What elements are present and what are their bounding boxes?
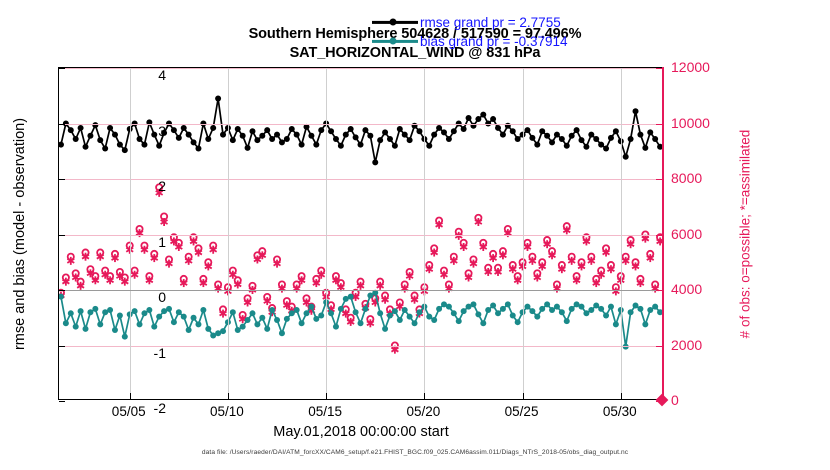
series-point-rmse bbox=[510, 128, 516, 134]
right-axis-tick-label: 6000 bbox=[671, 226, 702, 242]
series-point-bias bbox=[549, 307, 555, 313]
series-point-bias bbox=[529, 308, 535, 314]
series-point-bias bbox=[333, 324, 339, 330]
series-point-bias bbox=[598, 306, 604, 312]
right-axis-tick-label: 12000 bbox=[671, 59, 710, 75]
series-point-rmse bbox=[480, 112, 486, 118]
series-point-rmse bbox=[583, 144, 589, 150]
series-point-bias bbox=[613, 321, 619, 327]
series-point-rmse bbox=[59, 142, 64, 148]
series-point-rmse bbox=[362, 127, 368, 133]
series-point-bias bbox=[284, 316, 290, 322]
right-axis-label: # of obs: o=possible; *=assimilated bbox=[738, 130, 753, 339]
right-axis-tick-label: 2000 bbox=[671, 337, 702, 353]
series-point-bias bbox=[166, 306, 172, 312]
series-point-rmse bbox=[431, 132, 437, 138]
series-point-rmse bbox=[534, 142, 540, 148]
vertical-gridline bbox=[523, 68, 524, 399]
series-point-rmse bbox=[279, 139, 285, 145]
plot-clip bbox=[59, 68, 662, 399]
series-point-bias bbox=[485, 307, 491, 313]
series-point-rmse bbox=[475, 116, 481, 122]
series-point-bias bbox=[92, 306, 98, 312]
series-point-rmse bbox=[313, 142, 319, 148]
series-point-rmse bbox=[613, 128, 619, 134]
series-point-bias bbox=[279, 330, 285, 336]
series-point-rmse bbox=[372, 159, 378, 165]
series-point-rmse bbox=[392, 143, 398, 149]
series-point-rmse bbox=[539, 128, 545, 134]
vertical-gridline bbox=[424, 68, 425, 399]
series-point-bias bbox=[68, 310, 74, 316]
series-point-bias bbox=[156, 314, 162, 320]
series-point-rmse bbox=[299, 142, 305, 148]
series-point-bias bbox=[470, 301, 476, 307]
series-point-bias bbox=[313, 316, 319, 322]
series-point-rmse bbox=[156, 143, 162, 149]
series-point-rmse bbox=[259, 133, 265, 139]
series-point-rmse bbox=[205, 136, 211, 142]
legend-item-bias: bias grand pr = -0.37914 bbox=[372, 31, 567, 50]
series-point-rmse bbox=[284, 136, 290, 142]
series-point-rmse bbox=[574, 127, 580, 133]
data-file-footer: data file: /Users/raeder/DAI/ATM_forcXX/… bbox=[0, 449, 830, 456]
series-point-rmse bbox=[367, 133, 373, 139]
left-axis-tick-mark bbox=[59, 235, 65, 236]
x-axis-tick-label: 05/25 bbox=[505, 404, 539, 419]
series-point-bias bbox=[289, 310, 295, 316]
right-axis-spine bbox=[662, 67, 664, 401]
series-point-rmse bbox=[289, 126, 295, 132]
series-point-rmse bbox=[97, 137, 103, 143]
legend-label-rmse: rmse grand pr = 2.7755 bbox=[420, 15, 561, 30]
series-point-bias bbox=[633, 303, 639, 309]
series-point-rmse bbox=[397, 126, 403, 132]
left-axis-tick-mark bbox=[59, 68, 65, 69]
series-point-bias bbox=[544, 301, 550, 307]
series-point-bias bbox=[245, 317, 251, 323]
series-point-bias bbox=[353, 309, 359, 315]
series-point-rmse bbox=[461, 126, 467, 132]
series-point-rmse bbox=[603, 145, 609, 151]
series-point-rmse bbox=[122, 147, 128, 153]
series-point-bias bbox=[426, 314, 432, 320]
legend-item-rmse: rmse grand pr = 2.7755 bbox=[372, 12, 567, 31]
series-point-rmse bbox=[210, 125, 216, 131]
series-point-bias bbox=[78, 308, 84, 314]
series-point-rmse bbox=[181, 125, 187, 131]
left-axis-tick-mark bbox=[59, 124, 65, 125]
series-point-bias bbox=[358, 320, 364, 326]
series-point-bias bbox=[505, 301, 511, 307]
legend: rmse grand pr = 2.7755 bias grand pr = -… bbox=[372, 12, 567, 50]
series-point-rmse bbox=[73, 136, 79, 142]
series-point-bias bbox=[554, 304, 560, 310]
series-point-rmse bbox=[593, 136, 599, 142]
x-axis-tick-label: 05/30 bbox=[603, 404, 637, 419]
series-point-bias bbox=[235, 327, 241, 333]
series-point-bias bbox=[176, 309, 182, 315]
series-point-bias bbox=[534, 314, 540, 320]
series-point-rmse bbox=[554, 132, 560, 138]
vertical-gridline bbox=[621, 68, 622, 399]
series-point-bias bbox=[397, 317, 403, 323]
series-point-bias bbox=[137, 321, 143, 327]
series-point-bias bbox=[122, 334, 128, 340]
series-point-rmse bbox=[348, 126, 354, 132]
series-point-rmse bbox=[294, 132, 300, 138]
series-point-bias bbox=[652, 304, 658, 310]
series-point-rmse bbox=[466, 115, 472, 121]
series-point-rmse bbox=[623, 154, 629, 160]
series-point-rmse bbox=[500, 132, 506, 138]
horizontal-gridline bbox=[59, 235, 662, 236]
series-point-rmse bbox=[215, 96, 221, 102]
left-axis-tick-mark bbox=[59, 346, 65, 347]
series-point-rmse bbox=[186, 132, 192, 138]
series-point-rmse bbox=[451, 128, 457, 134]
series-point-bias bbox=[205, 326, 211, 332]
series-point-rmse bbox=[191, 139, 197, 145]
series-point-bias bbox=[294, 307, 300, 313]
series-point-bias bbox=[362, 306, 368, 312]
series-point-bias bbox=[495, 310, 501, 316]
series-point-bias bbox=[264, 326, 270, 332]
series-point-bias bbox=[608, 304, 614, 310]
series-point-bias bbox=[186, 327, 192, 333]
series-point-bias bbox=[195, 321, 201, 327]
horizontal-gridline bbox=[59, 346, 662, 347]
series-point-bias bbox=[446, 304, 452, 310]
series-point-rmse bbox=[529, 135, 535, 141]
series-point-bias bbox=[274, 317, 280, 323]
series-point-rmse bbox=[102, 145, 108, 151]
series-point-rmse bbox=[68, 127, 74, 133]
series-point-rmse bbox=[230, 137, 236, 143]
series-point-rmse bbox=[141, 142, 147, 148]
x-axis-tick-label: 05/20 bbox=[406, 404, 440, 419]
series-point-bias bbox=[480, 320, 486, 326]
series-point-rmse bbox=[353, 134, 359, 140]
series-point-bias bbox=[642, 321, 648, 327]
series-point-bias bbox=[387, 313, 393, 319]
series-point-bias bbox=[328, 310, 334, 316]
series-point-bias bbox=[230, 309, 236, 315]
series-point-rmse bbox=[333, 136, 339, 142]
series-point-rmse bbox=[426, 143, 432, 149]
series-point-bias bbox=[191, 315, 197, 321]
x-axis-label: May.01,2018 00:00:00 start bbox=[0, 424, 722, 440]
series-point-rmse bbox=[633, 108, 639, 114]
series-point-bias bbox=[490, 303, 496, 309]
series-point-bias bbox=[181, 314, 187, 320]
right-axis-tick-label: 4000 bbox=[671, 281, 702, 297]
series-point-bias bbox=[299, 320, 305, 326]
series-point-bias bbox=[603, 313, 609, 319]
series-point-bias bbox=[73, 324, 79, 330]
plot-area bbox=[58, 67, 663, 400]
series-point-rmse bbox=[137, 136, 143, 142]
series-point-bias bbox=[637, 306, 643, 312]
data-layer bbox=[59, 68, 662, 399]
series-point-bias bbox=[539, 306, 545, 312]
series-point-rmse bbox=[195, 145, 201, 151]
series-point-bias bbox=[431, 317, 437, 323]
x-axis-tick-label: 05/05 bbox=[112, 404, 146, 419]
series-point-rmse bbox=[588, 132, 594, 138]
series-point-rmse bbox=[151, 132, 157, 138]
series-point-bias bbox=[436, 306, 442, 312]
series-point-bias bbox=[579, 304, 585, 310]
series-point-bias bbox=[117, 313, 123, 319]
left-axis-tick-mark bbox=[59, 401, 65, 402]
series-point-rmse bbox=[117, 142, 123, 148]
series-point-bias bbox=[87, 309, 93, 315]
series-point-rmse bbox=[436, 125, 442, 131]
series-point-bias bbox=[112, 327, 118, 333]
series-point-rmse bbox=[112, 132, 118, 138]
series-point-bias bbox=[564, 318, 570, 324]
series-point-bias bbox=[97, 321, 103, 327]
series-point-rmse bbox=[83, 144, 89, 150]
horizontal-gridline bbox=[59, 179, 662, 180]
series-point-rmse bbox=[220, 132, 226, 138]
series-point-rmse bbox=[328, 128, 334, 134]
series-point-rmse bbox=[87, 133, 93, 139]
x-axis-tick-mark bbox=[424, 393, 425, 399]
series-point-bias bbox=[593, 303, 599, 309]
series-point-rmse bbox=[637, 132, 643, 138]
series-point-rmse bbox=[569, 133, 575, 139]
series-point-rmse bbox=[308, 133, 314, 139]
series-point-rmse bbox=[446, 136, 452, 142]
series-point-rmse bbox=[559, 136, 565, 142]
right-axis-tick-label: 10000 bbox=[671, 115, 710, 131]
right-axis-tick-label: 0 bbox=[671, 392, 679, 408]
series-point-rmse bbox=[515, 136, 521, 142]
series-point-rmse bbox=[254, 137, 260, 143]
series-point-bias bbox=[377, 310, 383, 316]
series-point-bias bbox=[412, 320, 418, 326]
series-point-rmse bbox=[608, 135, 614, 141]
series-point-bias bbox=[259, 315, 265, 321]
series-point-rmse bbox=[598, 142, 604, 148]
vertical-gridline bbox=[228, 68, 229, 399]
series-point-bias bbox=[240, 324, 246, 330]
series-point-rmse bbox=[235, 126, 241, 132]
series-point-rmse bbox=[318, 127, 324, 133]
series-point-bias bbox=[220, 328, 226, 334]
series-point-rmse bbox=[549, 139, 555, 145]
series-assimilated bbox=[59, 189, 662, 354]
series-point-rmse bbox=[264, 127, 270, 133]
series-point-rmse bbox=[490, 116, 496, 122]
series-point-bias bbox=[304, 310, 310, 316]
x-axis-tick-mark bbox=[523, 393, 524, 399]
series-rmse bbox=[59, 96, 662, 166]
series-point-rmse bbox=[107, 125, 113, 131]
series-point-rmse bbox=[579, 137, 585, 143]
series-point-bias bbox=[407, 314, 413, 320]
series-point-rmse bbox=[274, 132, 280, 138]
series-point-rmse bbox=[416, 128, 422, 134]
series-point-bias bbox=[249, 310, 255, 316]
series-point-rmse bbox=[382, 129, 388, 135]
series-point-rmse bbox=[269, 136, 275, 142]
series-point-bias bbox=[200, 307, 206, 313]
series-point-bias bbox=[254, 321, 260, 327]
series-point-bias bbox=[524, 304, 530, 310]
series-point-rmse bbox=[647, 129, 653, 135]
series-point-bias bbox=[382, 326, 388, 332]
x-axis-tick-mark bbox=[228, 393, 229, 399]
chart-figure: Southern Hemisphere 504628 / 517590 = 97… bbox=[0, 0, 830, 470]
horizontal-gridline bbox=[59, 68, 662, 69]
series-point-bias bbox=[348, 294, 354, 300]
series-point-rmse bbox=[338, 143, 344, 149]
series-point-bias bbox=[451, 310, 457, 316]
x-axis-tick-label: 05/15 bbox=[308, 404, 342, 419]
horizontal-gridline bbox=[59, 124, 662, 125]
x-axis-tick-mark bbox=[326, 393, 327, 399]
series-point-rmse bbox=[240, 133, 246, 139]
series-point-rmse bbox=[387, 136, 393, 142]
series-point-bias bbox=[392, 308, 398, 314]
series-point-rmse bbox=[249, 128, 255, 134]
series-point-rmse bbox=[544, 133, 550, 139]
series-point-rmse bbox=[377, 137, 383, 143]
series-point-bias bbox=[475, 311, 481, 317]
series-point-rmse bbox=[628, 136, 634, 142]
series-point-rmse bbox=[171, 127, 177, 133]
series-point-bias bbox=[402, 307, 408, 313]
series-point-bias bbox=[456, 318, 462, 324]
legend-swatch-rmse bbox=[372, 17, 418, 27]
series-point-bias bbox=[559, 309, 565, 315]
series-point-bias bbox=[318, 313, 324, 319]
series-point-rmse bbox=[495, 125, 501, 131]
series-point-rmse bbox=[176, 135, 182, 141]
x-axis-tick-label: 05/10 bbox=[210, 404, 244, 419]
series-point-rmse bbox=[564, 143, 570, 149]
x-axis-tick-mark bbox=[621, 393, 622, 399]
left-axis-label: rmse and bias (model - observation) bbox=[12, 118, 28, 350]
series-point-rmse bbox=[402, 132, 408, 138]
series-point-bias bbox=[500, 306, 506, 312]
series-point-rmse bbox=[358, 142, 364, 148]
series-point-bias bbox=[588, 307, 594, 313]
series-line-bias bbox=[61, 293, 660, 347]
series-point-bias bbox=[107, 307, 113, 313]
series-point-bias bbox=[515, 319, 521, 325]
series-point-bias bbox=[269, 307, 275, 313]
vertical-gridline bbox=[130, 68, 131, 399]
x-axis-tick-mark bbox=[130, 393, 131, 399]
series-point-bias bbox=[146, 307, 152, 313]
series-point-bias bbox=[171, 319, 177, 325]
series-point-bias bbox=[308, 304, 314, 310]
left-axis-tick-mark bbox=[59, 290, 65, 291]
legend-swatch-bias bbox=[372, 36, 418, 46]
series-point-bias bbox=[141, 310, 147, 316]
series-point-bias bbox=[569, 306, 575, 312]
series-point-bias bbox=[583, 310, 589, 316]
series-point-bias bbox=[151, 324, 157, 330]
series-line-rmse bbox=[61, 99, 660, 163]
series-point-rmse bbox=[304, 124, 310, 130]
vertical-gridline bbox=[326, 68, 327, 399]
series-point-bias bbox=[83, 326, 89, 332]
series-point-rmse bbox=[441, 129, 447, 135]
series-point-bias bbox=[416, 309, 422, 315]
series-point-rmse bbox=[652, 136, 658, 142]
series-point-bias bbox=[461, 308, 467, 314]
series-point-rmse bbox=[343, 132, 349, 138]
series-point-rmse bbox=[78, 125, 84, 131]
right-axis-tick-label: 8000 bbox=[671, 170, 702, 186]
series-bias bbox=[59, 290, 662, 350]
series-point-bias bbox=[647, 307, 653, 313]
series-point-rmse bbox=[642, 145, 648, 151]
legend-label-bias: bias grand pr = -0.37914 bbox=[420, 34, 567, 49]
series-point-rmse bbox=[245, 145, 251, 151]
zero-reference-line bbox=[59, 290, 662, 291]
series-point-rmse bbox=[524, 127, 530, 133]
left-axis-tick-mark bbox=[59, 179, 65, 180]
series-point-bias bbox=[132, 308, 138, 314]
series-point-bias bbox=[63, 320, 69, 326]
series-point-rmse bbox=[407, 137, 413, 143]
series-point-bias bbox=[338, 306, 344, 312]
series-point-bias bbox=[510, 313, 516, 319]
series-point-bias bbox=[623, 344, 629, 350]
series-point-bias bbox=[628, 309, 634, 315]
